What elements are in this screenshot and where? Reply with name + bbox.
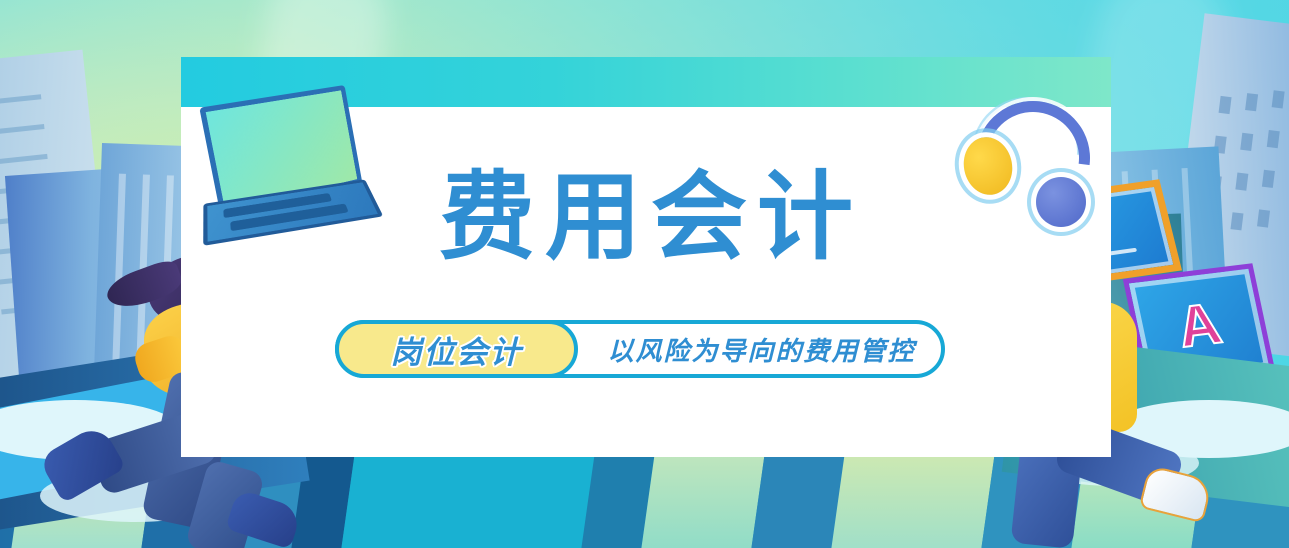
runner-shoe <box>1139 465 1214 524</box>
badge-pill: 岗位会计 <box>335 320 578 378</box>
badge-label: 岗位会计 <box>391 327 523 372</box>
page-title: 费用会计 <box>181 160 1111 275</box>
course-banner: A <box>0 0 1289 548</box>
subtitle-text: 以风险为导向的费用管控 <box>578 320 945 378</box>
